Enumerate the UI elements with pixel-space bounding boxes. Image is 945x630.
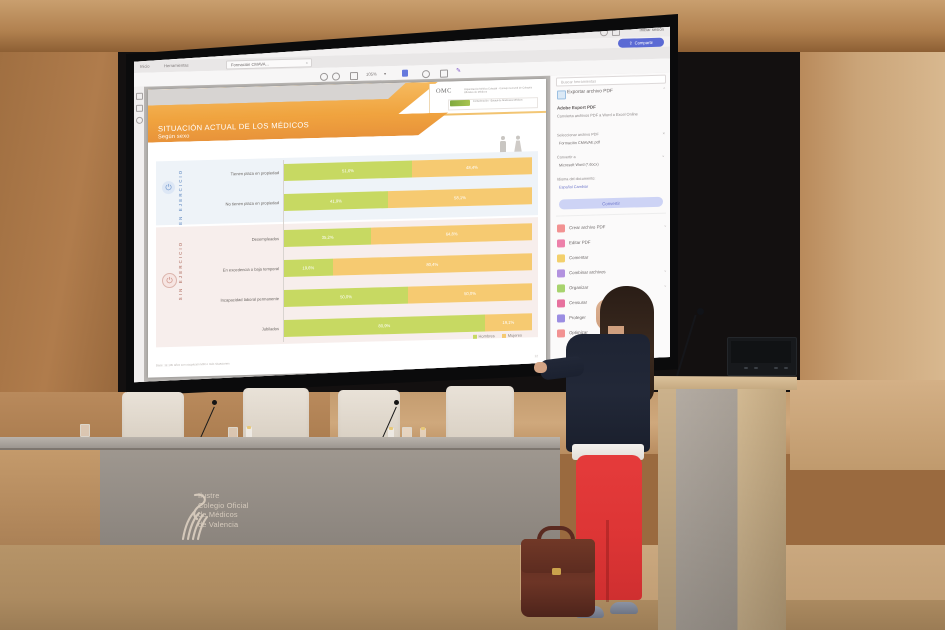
promo-title: Adobe Export PDF (557, 105, 596, 111)
attachments-icon[interactable] (136, 117, 143, 124)
lectern-top (645, 376, 797, 390)
chart-segment-hombres: 50,0% (284, 287, 408, 307)
slide-page: OMC Organización Médica Colegial · Conse… (148, 79, 546, 378)
optimize-pdf-icon (557, 329, 565, 337)
speaker-leg-seam (606, 520, 609, 602)
create-pdf-icon (557, 224, 565, 232)
wall-panel-right (790, 380, 945, 470)
chart-segment-hombres: 41,9% (284, 191, 388, 211)
select-tool-icon[interactable] (402, 70, 408, 77)
monitor-power-button[interactable] (784, 367, 788, 369)
venue-logo-line-3: de Médicos (198, 510, 249, 520)
chevron-down-icon[interactable]: ▾ (384, 71, 386, 76)
label-select-file: Seleccionar archivo PDF (557, 132, 599, 137)
chart-segment-hombres: 51,6% (284, 160, 412, 180)
value-selected-file[interactable]: Formación CMAVAE.pdf (559, 140, 600, 145)
protect-icon (557, 314, 565, 322)
stamp-icon[interactable] (422, 70, 430, 78)
lectern-microphone-head (697, 308, 704, 315)
lectern-shading (658, 389, 786, 630)
combine-files-icon (557, 269, 565, 277)
tool-item-label: Editar PDF (569, 240, 590, 246)
presentation-room-photo: Formación CMAVAE.pdf - Adobe Acrobat Rea… (0, 0, 945, 630)
slide-page-number: 12 (534, 354, 538, 358)
edit-pdf-icon (557, 239, 565, 247)
value-convert-format[interactable]: Microsoft Word (*.docx) (559, 162, 599, 167)
acrobat-window: Formación CMAVAE.pdf - Adobe Acrobat Rea… (134, 24, 670, 384)
chart-segment-hombres: 35,2% (284, 228, 371, 247)
tool-item-label: Comentar (569, 255, 588, 261)
monitor-button-3[interactable] (774, 367, 778, 369)
chart-segment-mujeres: 19,1% (485, 313, 532, 331)
zoom-in-icon[interactable] (350, 72, 358, 80)
panel-divider (556, 213, 666, 216)
left-wall (0, 50, 118, 450)
draw-icon[interactable]: ✎ (456, 68, 463, 75)
stage-step (0, 600, 945, 630)
monitor-button-1[interactable] (744, 367, 748, 369)
legend-item-mujeres: Mujeres (502, 333, 522, 339)
slide-logos: OMC Organización Médica Colegial · Conse… (429, 81, 542, 114)
tools-search-input[interactable]: Buscar herramientas (556, 75, 666, 87)
tool-item-label: Combinar archivos (569, 269, 606, 275)
tab-home[interactable]: Inicio (140, 64, 150, 69)
organize-pages-icon (557, 284, 565, 292)
chart-axis (283, 160, 284, 342)
bottle-cap-3 (421, 427, 425, 430)
legend-item-hombres: Hombres (473, 333, 495, 339)
tool-item-label: Proteger (569, 315, 586, 320)
share-label: Compartir (635, 40, 653, 45)
highlight-icon[interactable] (440, 69, 448, 77)
chart-segment-mujeres: 50,0% (408, 283, 532, 303)
share-icon: ⇪ (629, 41, 633, 46)
value-language[interactable]: Español Cambiar (559, 185, 588, 190)
tab-document-label: Formación CMAVA... (231, 61, 269, 67)
tool-item-label: Crear archivo PDF (569, 224, 605, 230)
chevron-down-icon[interactable]: ⌄ (663, 283, 667, 288)
conference-table-front-panel (100, 450, 560, 545)
conference-table-left-panel (0, 450, 100, 545)
tool-item-label: Organizar (569, 285, 588, 291)
lectern-monitor-screen (731, 341, 791, 363)
promo-text: Convierta archivos PDF a Word o Excel On… (557, 111, 665, 119)
tab-tools[interactable]: Herramientas (164, 63, 189, 69)
pdf-viewport[interactable]: OMC Organización Médica Colegial · Conse… (144, 76, 550, 384)
speaker-hand (534, 362, 547, 373)
venue-logo-line-2: Colegio Oficial (198, 501, 249, 511)
monitor-button-2[interactable] (754, 367, 758, 369)
chevron-down-icon[interactable]: ⌄ (663, 268, 667, 273)
chart-segment-mujeres: 48,4% (412, 157, 532, 177)
speaker-jacket (566, 334, 650, 452)
legend-swatch-hombres (473, 334, 477, 338)
redact-icon (557, 299, 565, 307)
water-glass-1 (80, 424, 90, 437)
chair-2 (243, 388, 309, 444)
venue-logo-line-1: Ilustre (198, 491, 249, 501)
page-subtitle: Según sexo (158, 133, 190, 140)
omc-subtitle: Organización Médica Colegial · Consejo G… (464, 86, 538, 94)
venue-logo-text: Ilustre Colegio Oficial de Médicos de Va… (198, 491, 249, 529)
omc-logo: OMC (436, 87, 452, 94)
chevron-up-icon[interactable]: ⌃ (662, 87, 666, 93)
chart-footnote: Base: 12.135 años con ocupación MIR o má… (156, 361, 230, 367)
chart-legend: Hombres Mujeres (473, 333, 522, 339)
zoom-out-icon[interactable] (332, 72, 340, 80)
pan-icon[interactable] (320, 72, 328, 80)
label-convert-to: Convertir a (557, 155, 576, 160)
legend-swatch-mujeres (502, 333, 506, 337)
zoom-level[interactable]: 105% (366, 72, 377, 77)
bottle-cap-2 (389, 427, 393, 430)
table-microphone-head-2 (394, 400, 399, 405)
cgcom-logo-mark (450, 100, 470, 107)
table-microphone-head-1 (212, 400, 217, 405)
bookmarks-icon[interactable] (136, 105, 143, 112)
label-language: Idioma del documento: (557, 177, 595, 182)
export-pdf-icon (557, 90, 566, 99)
projection-screen: Formación CMAVAE.pdf - Adobe Acrobat Rea… (134, 24, 670, 384)
chart-segment-hombres: 19,6% (284, 259, 333, 277)
venue-logo-line-4: de Valencia (198, 520, 249, 530)
convert-button[interactable]: Convertir (559, 197, 663, 210)
chevron-down-icon[interactable]: ⌄ (663, 223, 667, 228)
tool-item-label: Censurar (569, 300, 587, 305)
bag-lock (552, 568, 561, 575)
share-button[interactable]: ⇪ Compartir (618, 38, 664, 48)
thumbnails-icon[interactable] (136, 93, 143, 100)
close-icon[interactable]: × (306, 60, 308, 65)
tools-panel-header: Exportar archivo PDF (567, 89, 613, 95)
speaker-shoe-right (610, 602, 638, 614)
comment-icon (557, 254, 565, 262)
bottle-cap-1 (247, 426, 251, 429)
remove-file-icon[interactable]: × (663, 131, 665, 136)
chevron-down-icon[interactable]: ⌄ (661, 153, 665, 158)
